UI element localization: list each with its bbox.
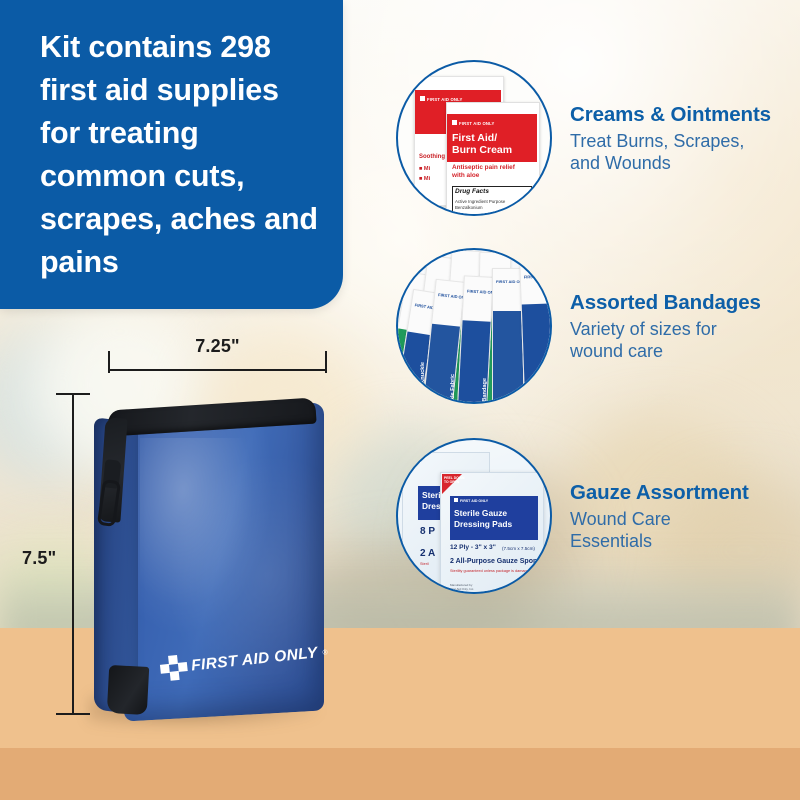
feature-image-circle: PEEL DOWN TO OPEN Sterile Gauze Dressing… [396,438,552,594]
packet-brand-front: FIRST AID ONLY [459,121,495,126]
height-dimension-label: 7.5" [22,548,56,569]
peel-corner-note: PEEL DOWN TO OPEN [406,456,426,464]
wrapper-label: Knuckle Fabric Bandage [482,378,488,404]
gauze-spec: 12 Ply - 3" x 3" [450,544,496,551]
feature-subtitle: Wound Care Essentials [570,508,749,553]
feature-subtitle: Variety of sizes for wound care [570,318,761,363]
product-infographic: Kit contains 298 first aid supplies for … [0,0,800,800]
bag-bottom-trim [107,665,149,715]
feature-gauze-assortment: PEEL DOWN TO OPEN Sterile Gauze Dressing… [396,436,796,596]
feature-image-circle: FIRST AID ONLY FIRST AID ONLY FIRST AID … [396,248,552,404]
gauze-warning: Sterility guaranteed unless package is d… [450,569,545,573]
feature-text-block: Gauze Assortment Wound Care Essentials [570,480,749,553]
brand-mark-icon [452,120,457,125]
bandage-wrapper: FIRST AID ONLY [519,263,552,404]
feature-text-block: Assorted Bandages Variety of sizes for w… [570,290,761,363]
width-dimension-cap-right [325,351,327,373]
wrapper-brand: FIRST AID ONLY [524,273,552,279]
gauze-spec-metric: (7.5cm x 7.5cm) [502,546,535,551]
packet-back-soothing: Soothing [419,154,445,160]
wrapper-label: Knuckle [420,362,426,384]
feature-title: Assorted Bandages [570,290,761,315]
gauze-title: Sterile Gauze Dressing Pads [454,508,512,529]
gauze-count: 2 All-Purpose Gauze Sponges [450,558,549,565]
feature-title: Creams & Ointments [570,102,771,127]
wrapper-label: Knuckle Fabric [450,374,456,404]
packet-back-bullet-2: ■ Mi [419,176,430,182]
headline-panel: Kit contains 298 first aid supplies for … [0,0,343,309]
gauze-back-count: 8 P [420,526,435,537]
gauze-back-warning: Steril [420,562,429,566]
first-aid-only-checker-icon [159,654,188,683]
table-front-edge [0,748,800,800]
feature-text-block: Creams & Ointments Treat Burns, Scrapes,… [570,102,771,175]
gauze-brand: FIRST AID ONLY [460,499,488,503]
height-dimension-line [72,394,74,714]
feature-title: Gauze Assortment [570,480,749,505]
drug-facts-line-1: Active Ingredient Purpose [455,199,505,204]
feature-subtitle: Treat Burns, Scrapes, and Wounds [570,130,771,175]
headline-text: Kit contains 298 first aid supplies for … [40,26,322,284]
height-dimension-cap-top [56,393,90,395]
peel-corner-note: PEEL DOWN TO OPEN [444,476,464,484]
brand-mark-icon [420,96,425,101]
drug-facts-line-2: Benzalkonium [455,205,483,210]
drug-facts-title: Drug Facts [455,188,489,195]
height-dimension-cap-bottom [56,713,90,715]
packet-front-subtitle: Antiseptic pain relief with aloe [452,164,515,179]
packet-front-name: First Aid/ Burn Cream [452,132,512,156]
brand-mark-icon [454,498,458,502]
width-dimension-line [108,369,327,371]
wrapper-label: Waterproof Adhesive Bandage [522,386,528,404]
feature-assorted-bandages: FIRST AID ONLY FIRST AID ONLY FIRST AID … [396,246,796,406]
packet-back-bullet-1: ■ Mi [419,166,430,172]
feature-image-circle: FIRST AID ONLY Burn Soothing ■ Mi ■ Mi F… [396,60,552,216]
feature-creams-ointments: FIRST AID ONLY Burn Soothing ■ Mi ■ Mi F… [396,58,796,218]
gauze-back-count-2: 2 A [420,548,435,559]
bandage-wrapper: FIRST AID ONLY [492,268,524,404]
bag-brand-trademark: ® [322,649,328,657]
gauze-fine-print: Manufactured by First Aid Only, Inc. Mad… [450,584,474,594]
width-dimension-label: 7.25" [108,336,327,357]
width-dimension-cap-left [108,351,110,373]
